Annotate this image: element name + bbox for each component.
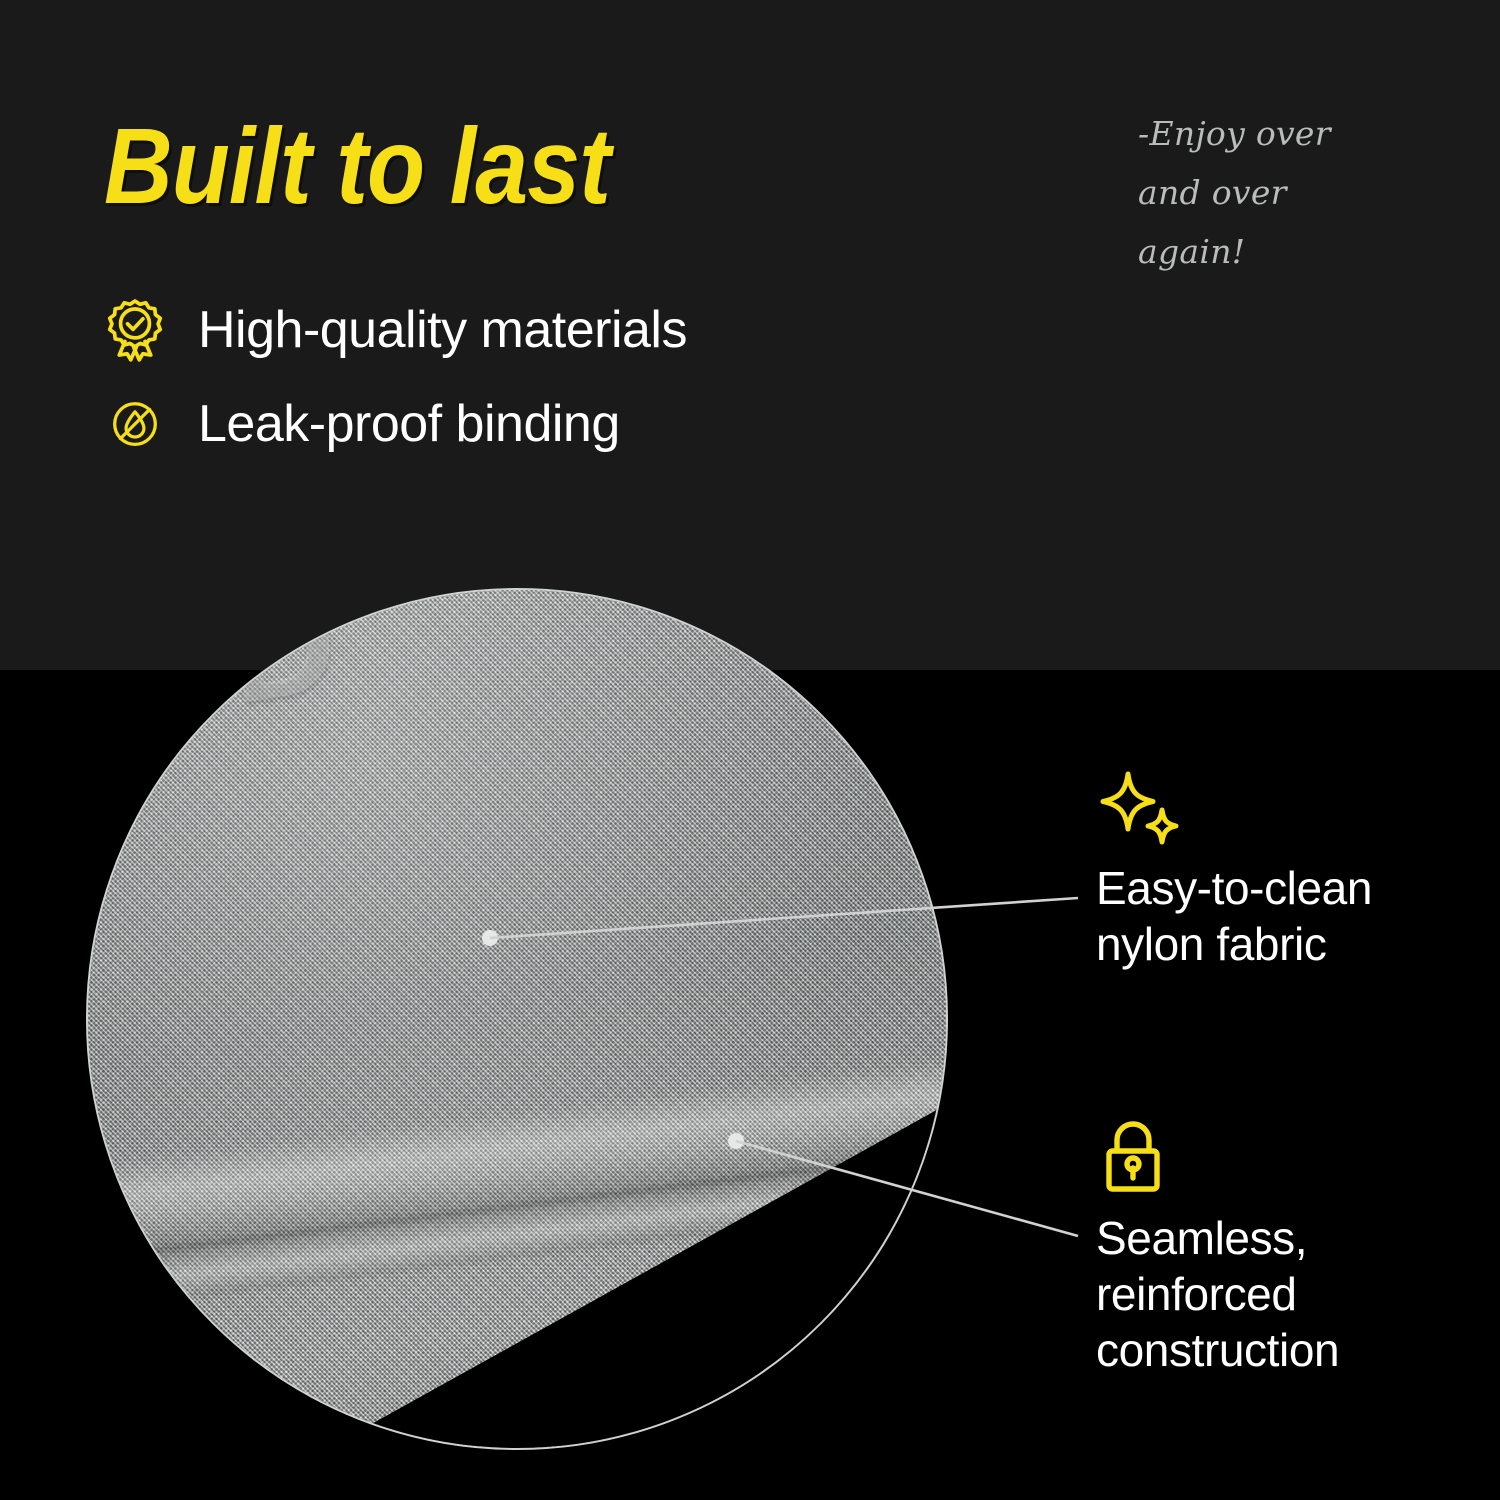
feature-item-leak-proof-binding: Leak-proof binding xyxy=(96,382,687,466)
feature-list: High-quality materials Leak-proof bindin… xyxy=(96,288,687,476)
callout-line-1: Easy-to-clean xyxy=(1096,860,1426,916)
product-infographic: Built to last -Enjoy over and over again… xyxy=(0,0,1500,1500)
handwritten-note: -Enjoy over and over again! xyxy=(1138,104,1388,281)
feature-label: Leak-proof binding xyxy=(198,394,620,454)
callout-easy-to-clean: Easy-to-clean nylon fabric xyxy=(1096,768,1426,972)
callout-line-2: reinforced xyxy=(1096,1266,1426,1322)
callout-line-3: construction xyxy=(1096,1322,1426,1378)
feature-label: High-quality materials xyxy=(198,300,687,360)
sparkle-icon xyxy=(1096,768,1426,860)
award-badge-check-icon xyxy=(96,291,174,369)
callout-seamless-construction: Seamless, reinforced construction xyxy=(1096,1118,1426,1378)
callout-text: Seamless, reinforced construction xyxy=(1096,1210,1426,1378)
page-title: Built to last xyxy=(104,112,610,220)
feature-item-high-quality-materials: High-quality materials xyxy=(96,288,687,372)
fabric-magnifier-circle: LD xyxy=(86,588,948,1450)
note-line-1: -Enjoy over xyxy=(1138,104,1388,163)
note-line-2: and over xyxy=(1138,163,1388,222)
note-line-3: again! xyxy=(1138,222,1388,281)
callout-line-2: nylon fabric xyxy=(1096,916,1426,972)
callout-line-1: Seamless, xyxy=(1096,1210,1426,1266)
no-water-drop-icon xyxy=(96,385,174,463)
padlock-icon xyxy=(1096,1118,1426,1210)
callout-text: Easy-to-clean nylon fabric xyxy=(1096,860,1426,972)
